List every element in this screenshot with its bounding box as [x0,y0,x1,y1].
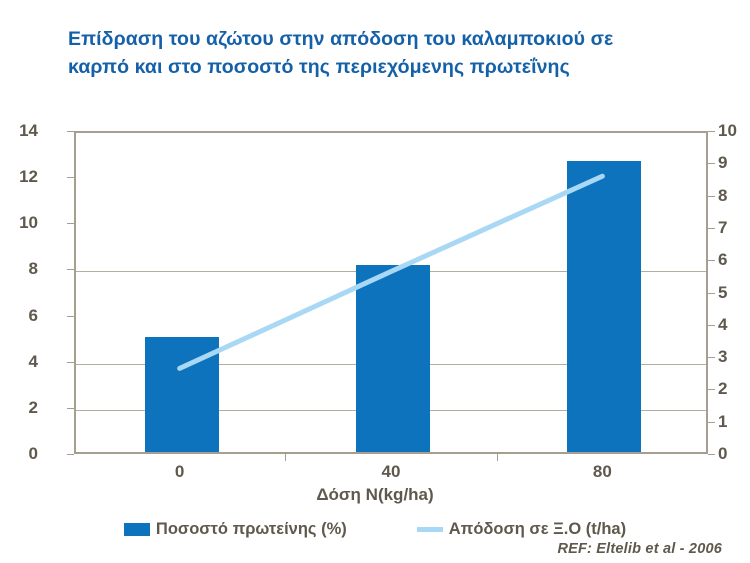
y-axis-right-tick-8: 8 [718,186,750,206]
y-axis-right-tick-2: 2 [718,379,750,399]
chart-title: Επίδραση του αζώτου στην απόδοση του καλ… [68,26,688,81]
x-axis-title: Δόση N(kg/ha) [0,485,750,505]
y-axis-left-tick-14: 14 [0,121,38,141]
y-axis-right-tickmark-0 [708,454,715,455]
plot-area [74,131,708,454]
legend-bar-swatch-icon [124,523,150,536]
y-axis-left-tickmark-6 [67,316,74,317]
legend-label-yield: Απόδοση σε Ξ.Ο (t/ha) [449,520,626,539]
y-axis-right-tickmark-5 [708,293,715,294]
reference-note: REF: Eltelib et al - 2006 [0,541,722,557]
legend-label-protein: Ποσοστό πρωτείνης (%) [156,520,347,539]
chart-canvas: Επίδραση του αζώτου στην απόδοση του καλ… [0,0,750,563]
y-axis-left-tickmark-2 [67,408,74,409]
chart-title-line-2: καρπό και στο ποσοστό της περιεχόμενης π… [68,54,688,82]
y-axis-right-tickmark-1 [708,422,715,423]
y-axis-right-tick-0: 0 [718,444,750,464]
y-axis-left-tickmark-10 [67,223,74,224]
x-axis-tick-80: 80 [542,462,662,482]
y-axis-right-tickmark-9 [708,163,715,164]
y-axis-right-tick-1: 1 [718,412,750,432]
legend-item-protein[interactable]: Ποσοστό πρωτείνης (%) [124,520,347,539]
bar-40[interactable] [356,265,430,452]
legend-line-swatch-icon [417,527,443,532]
y-axis-right-tick-9: 9 [718,153,750,173]
y-axis-right-tickmark-6 [708,260,715,261]
y-axis-right-tickmark-10 [708,131,715,132]
y-axis-right-tick-3: 3 [718,347,750,367]
y-axis-left-tick-2: 2 [0,398,38,418]
y-axis-left-tick-0: 0 [0,444,38,464]
y-axis-right-tick-6: 6 [718,250,750,270]
y-axis-right-tick-5: 5 [718,283,750,303]
y-axis-left-tick-8: 8 [0,259,38,279]
chart-legend: Ποσοστό πρωτείνης (%) Απόδοση σε Ξ.Ο (t/… [0,520,750,539]
y-axis-right-tickmark-4 [708,325,715,326]
y-axis-left-tickmark-4 [67,362,74,363]
y-axis-left-tickmark-8 [67,269,74,270]
x-axis-tickmark [497,454,498,461]
y-axis-left-tickmark-0 [67,454,74,455]
y-axis-right-tickmark-8 [708,196,715,197]
y-axis-left-tickmark-14 [67,131,74,132]
bar-0[interactable] [145,337,219,452]
y-axis-left-tickmark-12 [67,177,74,178]
y-axis-right-tick-7: 7 [718,218,750,238]
y-axis-left-tick-12: 12 [0,167,38,187]
y-axis-right-tickmark-3 [708,357,715,358]
y-axis-right-tickmark-2 [708,389,715,390]
x-axis-tick-0: 0 [120,462,240,482]
chart-title-line-1: Επίδραση του αζώτου στην απόδοση του καλ… [68,26,688,54]
x-axis-tick-40: 40 [331,462,451,482]
y-axis-left-tick-10: 10 [0,213,38,233]
bar-80[interactable] [567,161,641,452]
x-axis-tickmark [285,454,286,461]
y-axis-right-tickmark-7 [708,228,715,229]
y-axis-left-tick-6: 6 [0,306,38,326]
y-axis-right-tick-10: 10 [718,121,750,141]
y-axis-left-tick-4: 4 [0,352,38,372]
y-axis-right-tick-4: 4 [718,315,750,335]
legend-item-yield[interactable]: Απόδοση σε Ξ.Ο (t/ha) [417,520,626,539]
